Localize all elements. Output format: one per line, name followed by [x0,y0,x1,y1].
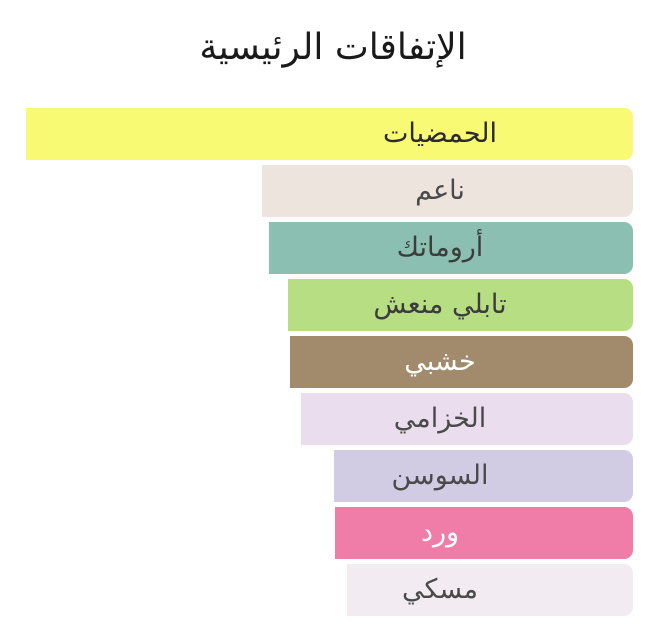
funnel-bar[interactable]: خشبي [290,336,633,388]
funnel-bar-label: تابلي منعش [268,279,613,331]
funnel-bar-label: ناعم [255,165,626,217]
chart-title: الإتفاقات الرئيسية [0,0,666,96]
funnel-bar[interactable]: الخزامي [301,393,633,445]
funnel-bar[interactable]: الحمضيات [26,108,633,160]
funnel-bar-label: السوسن [291,450,590,502]
funnel-bar[interactable]: تابلي منعش [288,279,633,331]
funnel-bars-container: الحمضياتناعمأروماتكتابلي منعشخشبيالخزامي… [0,96,666,641]
funnel-bar-label: خشبي [269,336,612,388]
funnel-bar[interactable]: ناعم [262,165,633,217]
funnel-bar-label: مسكي [297,564,583,616]
funnel-bar-label: أروماتك [258,222,622,274]
funnel-bar[interactable]: ورد [335,507,633,559]
funnel-bar[interactable]: السوسن [334,450,633,502]
funnel-bar-label: ورد [291,507,589,559]
funnel-bar-label: الخزامي [274,393,606,445]
funnel-chart: الإتفاقات الرئيسية الحمضياتناعمأروماتكتا… [0,0,666,641]
funnel-bar[interactable]: أروماتك [269,222,633,274]
funnel-bar-label: الحمضيات [137,108,666,160]
funnel-bar[interactable]: مسكي [347,564,633,616]
